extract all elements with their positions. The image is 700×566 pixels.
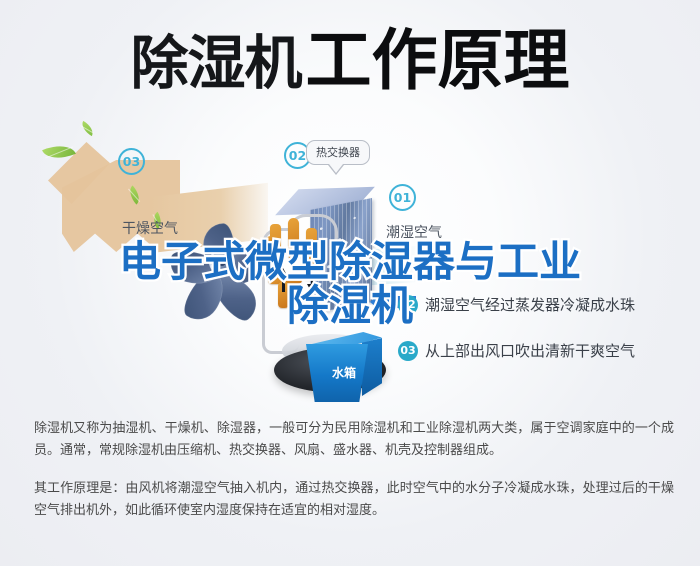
page-title: 除湿机工作原理 [0,28,700,94]
dry-air-label: 干燥空气 [122,218,178,238]
body-paragraph-1: 除湿机又称为抽湿机、干燥机、除湿器，一般可分为民用除湿机和工业除湿机两大类，属于… [34,418,674,462]
step-badge-01-humid-air: 01 [389,184,416,211]
fan-icon [168,208,272,312]
diagram-stage: 水箱 02 热交换器 03 干燥空气 01 潮湿空气 02 潮湿空气经过蒸发器冷… [0,112,700,408]
intake-air-arrow-head [370,290,384,314]
leaf-icon [79,121,96,136]
humid-air-label: 潮湿空气 [386,222,442,242]
step-badge-03-list: 03 [398,341,418,361]
step-list-item: 02 潮湿空气经过蒸发器冷凝成水珠 [398,294,698,315]
body-paragraph-2: 其工作原理是：由风机将潮湿空气抽入机内，通过热交换器，此时空气中的水分子冷凝成水… [34,478,674,522]
page-title-part-1: 除湿机 [130,29,301,97]
step-badge-02-list: 02 [398,295,418,315]
step-list: 02 潮湿空气经过蒸发器冷凝成水珠 03 从上部出风口吹出清新干爽空气 [398,294,698,386]
heat-exchanger-callout-label: 热交换器 [306,140,370,165]
page-title-part-2: 工作原理 [306,22,570,99]
step-list-item: 03 从上部出风口吹出清新干爽空气 [398,340,698,361]
step-list-item-text: 从上部出风口吹出清新干爽空气 [425,340,635,361]
water-tank-label: 水箱 [332,364,356,381]
step-list-item-text: 潮湿空气经过蒸发器冷凝成水珠 [425,294,635,315]
flow-arrow-right-icon [310,244,319,254]
refrigerant-coil-group [266,218,328,314]
step-badge-03-dry-air: 03 [118,148,145,175]
page-root: 除湿机工作原理 [0,0,700,566]
flow-arrow-up-icon [278,268,288,277]
body-copy: 除湿机又称为抽湿机、干燥机、除湿器，一般可分为民用除湿机和工业除湿机两大类，属于… [34,418,674,522]
flow-arrow-down-icon [307,284,317,293]
heat-exchanger-callout: 热交换器 [306,140,370,165]
